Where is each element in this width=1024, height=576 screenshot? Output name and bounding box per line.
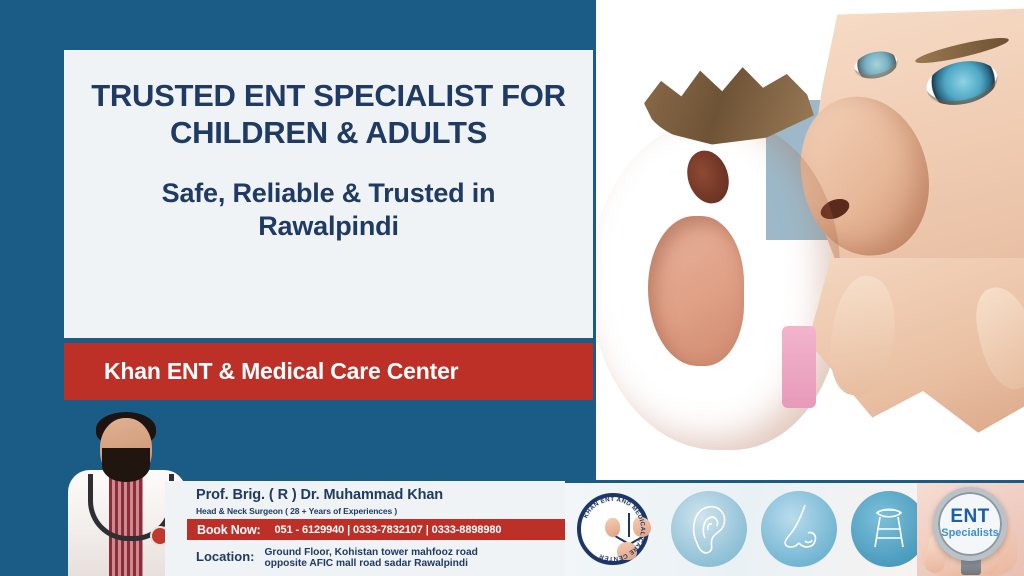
- book-now-bar[interactable]: Book Now: 051 - 6129940 | 0333-7832107 |…: [187, 519, 565, 540]
- address-line-1: Ground Floor, Kohistan tower mahfooz roa…: [265, 547, 478, 558]
- magnifier-lens-icon: ENT Specialists: [933, 487, 1007, 561]
- location-label: Location:: [196, 549, 255, 564]
- clinic-name-bar: Khan ENT & Medical Care Center: [64, 343, 593, 400]
- nose-icon: [761, 491, 837, 567]
- ent-clinic-banner: TRUSTED ENT SPECIALIST FOR CHILDREN & AD…: [0, 0, 1024, 576]
- location-address: Ground Floor, Kohistan tower mahfooz roa…: [265, 547, 478, 570]
- pink-collar-detail: [782, 326, 816, 408]
- address-line-2: opposite AFIC mall road sadar Rawalpindi: [265, 558, 468, 569]
- doctor-credentials: Head & Neck Surgeon ( 28 + Years of Expe…: [196, 506, 397, 516]
- headline-panel: TRUSTED ENT SPECIALIST FOR CHILDREN & AD…: [64, 50, 593, 338]
- photo-collage: [596, 0, 1024, 480]
- clinic-name: Khan ENT & Medical Care Center: [104, 358, 458, 385]
- doctor-name: Prof. Brig. ( R ) Dr. Muhammad Khan: [196, 487, 443, 503]
- logo-ring-text: KHAN ENT AND MEDICAL CARE CENTER: [577, 493, 649, 565]
- ent-specialists-badge: ENT Specialists: [917, 483, 1024, 576]
- svg-text:KHAN ENT AND MEDICAL CARE CENT: KHAN ENT AND MEDICAL CARE CENTER: [582, 496, 646, 562]
- book-now-label: Book Now:: [197, 523, 260, 537]
- ear-icon: [671, 491, 747, 567]
- badge-title: ENT: [950, 507, 989, 526]
- location-row: Location: Ground Floor, Kohistan tower m…: [196, 544, 478, 570]
- logo-ring-label: KHAN ENT AND MEDICAL CARE CENTER: [582, 496, 646, 562]
- icon-strip: KHAN ENT AND MEDICAL CARE CENTER: [565, 483, 1024, 576]
- phone-numbers[interactable]: 051 - 6129940 | 0333-7832107 | 0333-8898…: [274, 524, 501, 536]
- throat-icon: [851, 491, 927, 567]
- badge-subtitle: Specialists: [941, 527, 998, 540]
- headline-main: TRUSTED ENT SPECIALIST FOR CHILDREN & AD…: [64, 78, 593, 151]
- headline-sub: Safe, Reliable & Trusted in Rawalpindi: [64, 177, 593, 242]
- ear-inner-detail: [648, 216, 744, 366]
- doctor-info-panel: Prof. Brig. ( R ) Dr. Muhammad Khan Head…: [165, 481, 565, 576]
